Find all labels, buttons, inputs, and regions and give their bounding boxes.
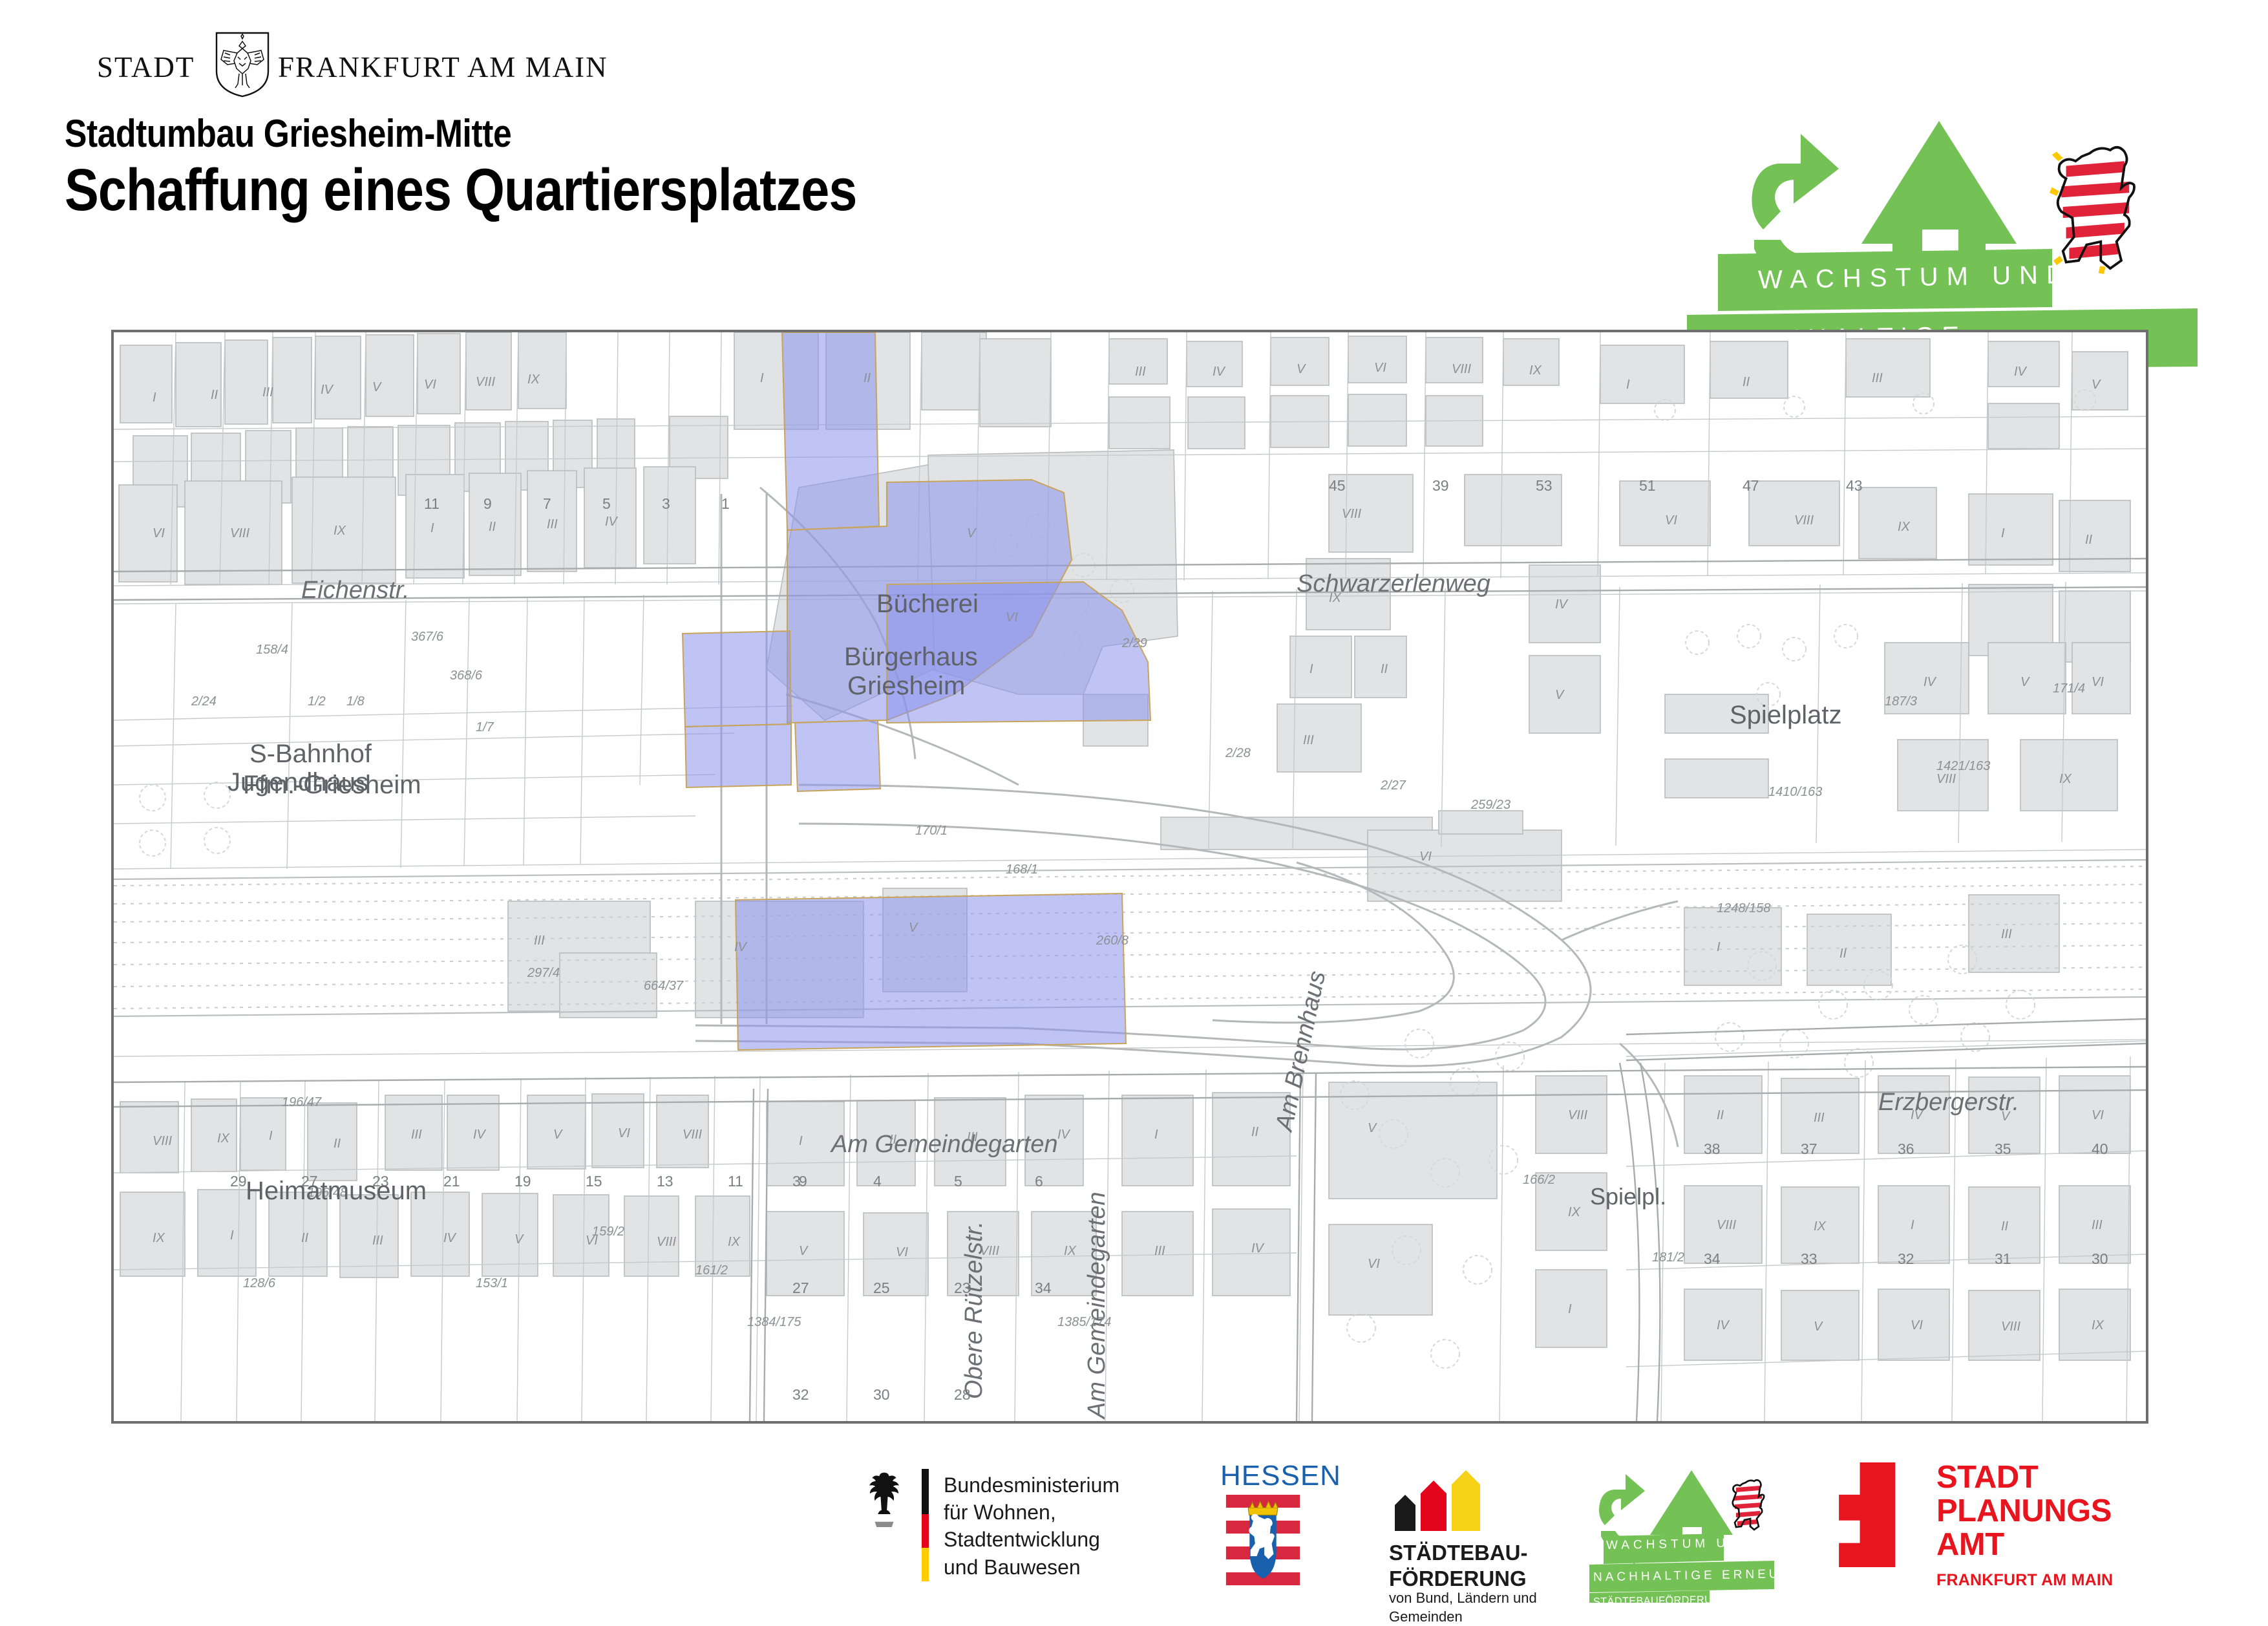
map-annotation: I [1911, 1218, 1914, 1233]
place-label-buecherei: Bücherei [876, 590, 979, 619]
map-annotation: I [1154, 1128, 1158, 1142]
map-annotation: VI [1374, 361, 1386, 376]
bmwsb-line-1: Bundesministerium [944, 1471, 1196, 1499]
map-annotation: 27 [792, 1279, 809, 1297]
map-annotation: VI [2092, 675, 2104, 690]
map-annotation: II [864, 371, 871, 386]
wachstum-line-1: WACHSTUM UND [1606, 1536, 1755, 1553]
three-houses-icon [1389, 1469, 1487, 1534]
map-annotation: VIII [230, 526, 249, 541]
map-annotation: 171/4 [2053, 681, 2085, 696]
map-annotation: I [760, 371, 764, 386]
map-annotation: 1410/163 [1768, 785, 1822, 800]
map-annotation: 45 [1329, 477, 1346, 495]
map-annotation: VIII [1794, 513, 1814, 528]
logo-stadtplanungsamt: STADT PLANUNGS AMT FRANKFURT AM MAIN [1823, 1455, 2159, 1603]
place-label-sbahnhof: S-Bahnhof [249, 740, 372, 769]
map-annotation: VI [1665, 513, 1677, 528]
staedtebau-line-1: STÄDTEBAU- [1389, 1540, 1527, 1566]
map-annotation: 9 [799, 1173, 807, 1190]
hessen-lion-icon [2050, 147, 2134, 274]
map-annotation: I [269, 1129, 273, 1144]
map-annotation: III [372, 1234, 383, 1248]
cadastral-map[interactable]: Eichenstr. Schwarzerlenweg Am Gemeindega… [111, 330, 2148, 1424]
map-annotation: 2/27 [1381, 778, 1406, 793]
street-label-erzbergerstr: Erzbergerstr. [1878, 1089, 2019, 1117]
map-annotation: 30 [873, 1386, 890, 1404]
map-annotation: IV [1911, 1108, 1923, 1123]
map-annotation: 38 [1704, 1140, 1721, 1158]
map-annotation: 664/37 [644, 979, 683, 994]
map-annotation: 259/23 [1471, 798, 1510, 813]
map-annotation: 25 [873, 1279, 890, 1297]
map-annotation: 368/6 [450, 669, 482, 683]
map-annotation: IV [321, 383, 333, 398]
street-label-am-gemeindegarten-vertical: Am Gemeindegarten [1083, 1192, 1111, 1418]
hessen-wordmark: HESSEN [1220, 1460, 1341, 1492]
map-annotation: IX [728, 1235, 740, 1250]
map-annotation: IX [1064, 1244, 1076, 1259]
map-annotation: V [2020, 675, 2029, 690]
map-annotation: 9 [483, 495, 492, 513]
map-annotation: 33 [1801, 1250, 1818, 1268]
staedtebau-sub-2: Gemeinden [1389, 1608, 1537, 1626]
map-annotation: I [1626, 378, 1630, 392]
map-annotation: III [411, 1128, 422, 1142]
map-annotation: 1384/175 [747, 1315, 801, 1330]
city-logo-right-text: FRANKFURT AM MAIN [278, 50, 608, 84]
map-annotation: IV [1057, 1128, 1070, 1142]
map-annotation: IX [1898, 520, 1910, 535]
map-annotation: 37 [1801, 1140, 1818, 1158]
quartiersplatz-highlight [114, 332, 2146, 1421]
map-annotation: II [1839, 947, 1847, 961]
map-annotation: 166/2 [1523, 1173, 1555, 1188]
wachstum-line-3: STÄDTEBAUFÖRDERUNG HESSEN [1593, 1592, 1777, 1609]
map-annotation: VIII [1568, 1108, 1587, 1123]
map-annotation: VIII [980, 1244, 999, 1259]
place-label-spielpl: Spielpl. [1590, 1183, 1666, 1210]
map-annotation: 15 [586, 1173, 602, 1190]
bmwsb-line-3: und Bauwesen [944, 1554, 1196, 1581]
map-annotation: 35 [1995, 1140, 2011, 1158]
logo-wachstum-erneuerung: WACHSTUM UND NACHHALTIGE ERNEUERUNG STÄD… [1587, 1455, 1858, 1603]
map-annotation: IV [473, 1128, 485, 1142]
map-annotation: IX [2092, 1318, 2104, 1333]
map-annotation: VI [153, 526, 165, 541]
map-annotation: III [1154, 1244, 1165, 1259]
city-logo-left-text: STADT [97, 50, 195, 84]
map-annotation: 181/2 [1652, 1250, 1684, 1265]
map-annotation: I [2001, 526, 2005, 541]
map-annotation: 5 [954, 1173, 962, 1190]
map-annotation: 260/8 [1096, 934, 1129, 948]
map-annotation: V [372, 380, 381, 395]
map-annotation: VI [1006, 610, 1018, 625]
map-annotation: V [2092, 378, 2100, 392]
map-annotation: VIII [2001, 1320, 2020, 1334]
map-annotation: I [1309, 662, 1313, 677]
map-annotation: 168/1 [1006, 862, 1038, 877]
map-annotation: 21 [443, 1173, 460, 1190]
map-annotation: 34 [1035, 1279, 1052, 1297]
map-annotation: III [547, 517, 558, 532]
flag-stripe-gold [922, 1548, 929, 1581]
map-annotation: VIII [1936, 772, 1956, 787]
spa-line-1: STADT [1936, 1461, 2112, 1495]
map-annotation: V [553, 1128, 562, 1142]
title-block: Stadtumbau Griesheim-Mitte Schaffung ein… [65, 113, 1487, 222]
map-annotation: IV [2014, 365, 2026, 380]
map-annotation: II [1717, 1108, 1724, 1123]
map-annotation: VIII [683, 1128, 702, 1142]
map-annotation: II [211, 388, 218, 403]
map-annotation: I [1717, 940, 1721, 955]
map-annotation: I [1568, 1302, 1572, 1317]
map-annotation: 28 [954, 1386, 971, 1404]
map-annotation: 1385/174 [1057, 1315, 1111, 1330]
spa-line-2: PLANUNGS [1936, 1495, 2112, 1528]
map-annotation: IV [443, 1231, 456, 1246]
map-annotation: IV [1213, 365, 1225, 380]
map-annotation: 36 [1898, 1140, 1914, 1158]
map-annotation: 7 [543, 495, 551, 513]
map-annotation: II [2001, 1219, 2008, 1234]
map-annotation: 47 [1743, 477, 1759, 495]
place-label-buergerhaus: Bürgerhaus [844, 643, 978, 672]
map-annotation: II [2085, 533, 2092, 548]
map-annotation: VI [896, 1245, 908, 1260]
map-annotation: I [230, 1228, 234, 1243]
map-annotation: 11 [424, 495, 440, 513]
map-annotation: 1/7 [476, 720, 494, 735]
map-annotation: 1/2 [308, 694, 326, 709]
place-label-spielplatz: Spielplatz [1730, 701, 1841, 730]
map-annotation: V [799, 1244, 807, 1259]
map-annotation: 23 [954, 1279, 971, 1297]
map-annotation: III [1872, 371, 1883, 386]
map-annotation: 1248/158 [1717, 901, 1770, 916]
map-annotation: III [1303, 733, 1314, 748]
map-annotation: IX [1814, 1219, 1826, 1234]
map-annotation: III [967, 1130, 978, 1145]
map-annotation: III [1814, 1111, 1825, 1126]
street-label-schwarzerlenweg: Schwarzerlenweg [1297, 570, 1490, 598]
map-annotation: V [1555, 688, 1563, 703]
map-annotation: 53 [1536, 477, 1553, 495]
map-annotation: VI [586, 1234, 598, 1248]
bundesadler-icon [860, 1469, 909, 1536]
map-annotation: V [1368, 1121, 1376, 1136]
map-annotation: V [1814, 1320, 1822, 1334]
map-annotation: 13 [657, 1173, 673, 1190]
map-annotation: I [153, 390, 156, 405]
map-annotation: VIII [1452, 362, 1471, 377]
map-annotation: VI [1368, 1257, 1380, 1272]
map-annotation: IV [1717, 1318, 1729, 1333]
map-annotation: III [262, 385, 273, 400]
map-annotation: V [514, 1232, 523, 1247]
map-annotation: 187/3 [1885, 694, 1917, 709]
map-annotation: VIII [153, 1134, 172, 1149]
map-annotation: II [301, 1231, 308, 1246]
map-annotation: V [967, 526, 975, 541]
map-annotation: II [1743, 375, 1750, 390]
hessen-flag-icon [1219, 1495, 1307, 1592]
city-logo: STADT FRANKFURT AM MAIN [97, 31, 511, 96]
map-annotation: IX [2059, 772, 2072, 787]
map-annotation: IX [217, 1131, 229, 1146]
staedtebau-sub-1: von Bund, Ländern und [1389, 1589, 1537, 1608]
logo-bmwsb: Bundesministerium für Wohnen, Stadtentwi… [860, 1455, 1196, 1603]
map-annotation: II [889, 1133, 896, 1148]
map-annotation: II [1381, 662, 1388, 677]
map-annotation: IX [153, 1231, 165, 1246]
map-annotation: 32 [1898, 1250, 1914, 1268]
street-label-am-gemeindegarten: Am Gemeindegarten [831, 1131, 1058, 1159]
map-annotation: II [489, 520, 496, 535]
spa-line-3: AMT [1936, 1528, 2112, 1562]
map-annotation: 40 [2092, 1140, 2108, 1158]
map-annotation: VI [2092, 1108, 2104, 1123]
logo-staedtebaufoerderung: STÄDTEBAU- FÖRDERUNG von Bund, Ländern u… [1373, 1455, 1554, 1603]
map-annotation: VI [424, 378, 436, 392]
map-annotation: I [799, 1134, 803, 1149]
map-annotation: 4 [873, 1173, 882, 1190]
map-annotation: IV [734, 940, 747, 955]
map-annotation: 1 [721, 495, 730, 513]
map-annotation: IX [1529, 363, 1542, 378]
bmwsb-line-2: für Wohnen, Stadtentwicklung [944, 1499, 1196, 1553]
map-annotation: 161/2 [695, 1263, 728, 1278]
map-annotation: 158/4 [256, 643, 288, 658]
map-annotation: V [909, 921, 917, 936]
page-title: Schaffung eines Quartiersplatzes [65, 159, 1288, 222]
map-annotation: 11 [728, 1173, 743, 1190]
frankfurt-eagle-shield-icon [215, 31, 270, 98]
map-annotation: VIII [657, 1235, 676, 1250]
map-annotation: IX [1568, 1205, 1580, 1220]
map-annotation: 196/47 [282, 1095, 321, 1110]
map-annotation: 170/1 [915, 824, 948, 839]
flag-stripe-red [922, 1514, 929, 1548]
map-annotation: I [430, 521, 434, 536]
map-annotation: II [334, 1137, 341, 1151]
map-annotation: 6 [1035, 1173, 1043, 1190]
map-annotation: 153/1 [476, 1276, 508, 1291]
map-annotation: 2/28 [1225, 746, 1251, 761]
page-subtitle: Stadtumbau Griesheim-Mitte [65, 113, 1288, 154]
staedtebau-line-2: FÖRDERUNG [1389, 1566, 1527, 1592]
map-annotation: 1/8 [346, 694, 365, 709]
map-annotation: VI [618, 1126, 630, 1141]
map-annotation: 32 [792, 1386, 809, 1404]
map-annotation: VI [1911, 1318, 1923, 1333]
map-annotation: 43 [1846, 477, 1863, 495]
place-label-heimatmuseum: Heimatmuseum [246, 1177, 427, 1206]
map-annotation: IX [334, 524, 346, 539]
map-annotation: III [534, 934, 545, 948]
map-annotation: IV [1924, 675, 1936, 690]
flag-stripe-black [922, 1469, 929, 1514]
place-label-jugendhaus: Jugendhaus [228, 768, 368, 797]
street-label-eichenstr: Eichenstr. [301, 577, 410, 604]
map-annotation: 51 [1639, 477, 1656, 495]
map-annotation: 29 [230, 1173, 247, 1190]
spa-line-4: FRANKFURT AM MAIN [1936, 1571, 2113, 1590]
map-annotation: 19 [514, 1173, 531, 1190]
map-annotation: III [2001, 927, 2012, 942]
map-annotation: V [1297, 362, 1305, 377]
logo-hessen: HESSEN [1215, 1455, 1344, 1603]
map-annotation: IX [527, 372, 540, 387]
badge-line-1: WACHSTUM UND [1758, 261, 2074, 295]
map-annotation: V [2001, 1109, 2009, 1124]
map-annotation: IV [605, 515, 617, 530]
map-annotation: 34 [1704, 1250, 1721, 1268]
map-annotation: VIII [1342, 507, 1361, 522]
map-annotation: VIII [1717, 1218, 1736, 1233]
map-annotation: 31 [1995, 1250, 2011, 1268]
place-label-buergerhaus-griesheim: Griesheim [847, 672, 965, 701]
map-annotation: IV [1555, 597, 1567, 612]
footer-logo-row: Bundesministerium für Wohnen, Stadtentwi… [0, 1455, 2268, 1603]
map-annotation: II [1251, 1125, 1258, 1140]
map-annotation: 367/6 [411, 630, 443, 645]
stadtplanungsamt-mark-icon [1823, 1462, 1920, 1567]
map-annotation: 30 [2092, 1250, 2108, 1268]
map-annotation: III [2092, 1218, 2103, 1233]
map-annotation: 3 [662, 495, 670, 513]
map-annotation: 2/29 [1122, 636, 1147, 651]
map-annotation: 2/24 [191, 694, 217, 709]
map-annotation: IV [1251, 1241, 1264, 1256]
map-annotation: VI [1419, 850, 1432, 864]
map-annotation: 39 [1432, 477, 1449, 495]
map-annotation: 297/4 [527, 966, 560, 981]
map-annotation: III [1135, 365, 1146, 380]
map-annotation: 5 [602, 495, 611, 513]
map-annotation: IX [1329, 591, 1341, 606]
map-annotation: VIII [476, 375, 495, 390]
map-annotation: 128/6 [243, 1276, 275, 1291]
